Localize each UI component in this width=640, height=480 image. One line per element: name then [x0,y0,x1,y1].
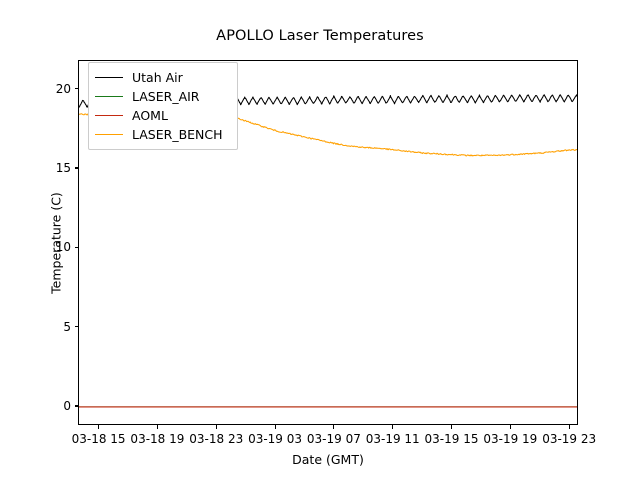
x-tick-label: 03-19 03 [248,432,302,446]
y-tick-label: 10 [33,240,71,254]
legend-color-swatch-laser-air [95,96,123,97]
x-tick-mark [510,425,511,429]
x-tick-mark [98,425,99,429]
legend-item[interactable]: LASER_BENCH [95,125,231,144]
y-tick-label: 15 [33,161,71,175]
y-tick-mark [75,326,79,327]
x-tick-label: 03-18 23 [189,432,243,446]
y-tick-mark [75,405,79,406]
legend-color-swatch-utah-air [95,77,123,78]
x-tick-mark [275,425,276,429]
chart-legend: Utah Air LASER_AIR AOML LASER_BENCH [88,62,238,150]
x-tick-mark [157,425,158,429]
x-tick-mark [392,425,393,429]
x-axis-label: Date (GMT) [78,452,578,467]
legend-label-laser-air: LASER_AIR [132,89,200,104]
x-tick-label: 03-19 19 [483,432,537,446]
legend-label-aoml: AOML [132,108,168,123]
legend-color-swatch-aoml [95,115,123,116]
x-tick-mark [451,425,452,429]
legend-color-swatch-laser-bench [95,134,123,135]
figure-canvas: APOLLO Laser Temperatures Temperature (C… [0,0,640,480]
x-tick-mark [333,425,334,429]
x-tick-label: 03-19 23 [542,432,596,446]
x-tick-label: 03-19 15 [425,432,479,446]
legend-label-laser-bench: LASER_BENCH [132,127,223,142]
y-tick-mark [75,167,79,168]
x-tick-mark [569,425,570,429]
x-tick-label: 03-19 07 [307,432,361,446]
x-tick-label: 03-18 15 [72,432,126,446]
y-tick-mark [75,88,79,89]
y-tick-label: 5 [33,320,71,334]
legend-item[interactable]: LASER_AIR [95,87,231,106]
y-tick-label: 0 [33,399,71,413]
y-tick-label: 20 [33,82,71,96]
legend-item[interactable]: Utah Air [95,68,231,87]
x-tick-label: 03-18 19 [130,432,184,446]
y-tick-mark [75,247,79,248]
legend-label-utah-air: Utah Air [132,70,183,85]
legend-item[interactable]: AOML [95,106,231,125]
chart-title: APOLLO Laser Temperatures [0,28,640,44]
x-tick-label: 03-19 11 [366,432,420,446]
x-tick-mark [216,425,217,429]
